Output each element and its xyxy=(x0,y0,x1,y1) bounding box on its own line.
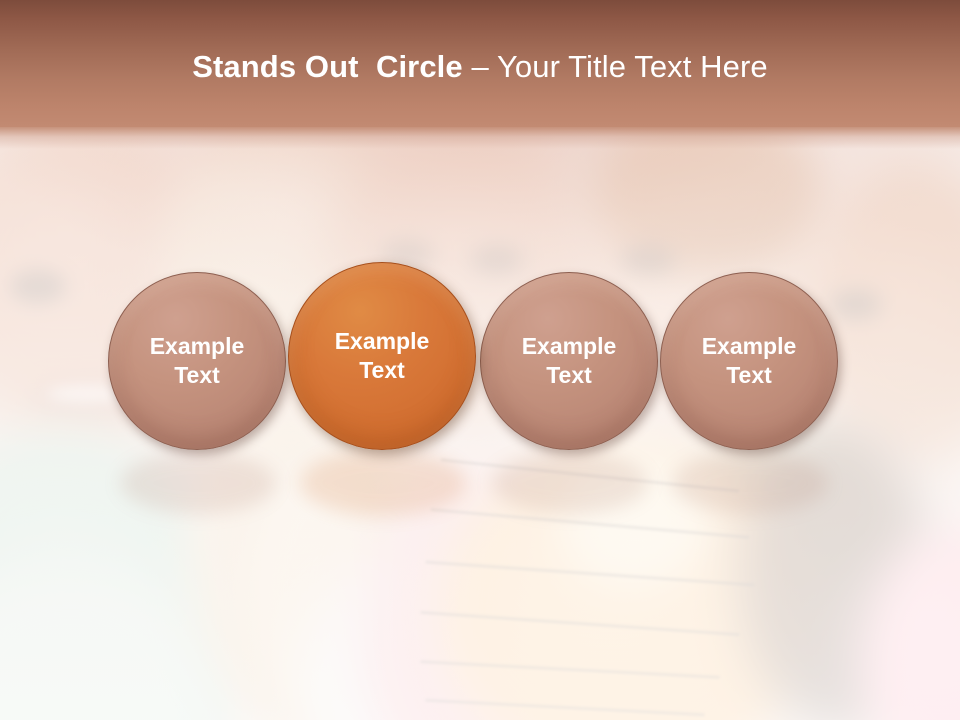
diagram-circle-1[interactable]: Example Text xyxy=(108,272,286,450)
circle-reflection-4 xyxy=(672,452,828,514)
circle-2-line-2: Text xyxy=(359,356,405,385)
circle-4-line-2: Text xyxy=(726,361,772,390)
circle-reflection-3 xyxy=(492,452,648,514)
circle-3-line-1: Example xyxy=(522,332,617,361)
circle-3-line-2: Text xyxy=(546,361,592,390)
circle-2-line-1: Example xyxy=(335,327,430,356)
circle-reflection-2 xyxy=(300,450,466,516)
circle-diagram: Example Text Example Text Example Text E… xyxy=(0,0,960,720)
circle-1-line-1: Example xyxy=(150,332,245,361)
presentation-slide: Stands Out Circle – Your Title Text Here… xyxy=(0,0,960,720)
circle-reflection-1 xyxy=(120,452,276,514)
circle-1-line-2: Text xyxy=(174,361,220,390)
diagram-circle-3[interactable]: Example Text xyxy=(480,272,658,450)
diagram-circle-2-highlighted[interactable]: Example Text xyxy=(288,262,476,450)
circle-4-line-1: Example xyxy=(702,332,797,361)
diagram-circle-4[interactable]: Example Text xyxy=(660,272,838,450)
